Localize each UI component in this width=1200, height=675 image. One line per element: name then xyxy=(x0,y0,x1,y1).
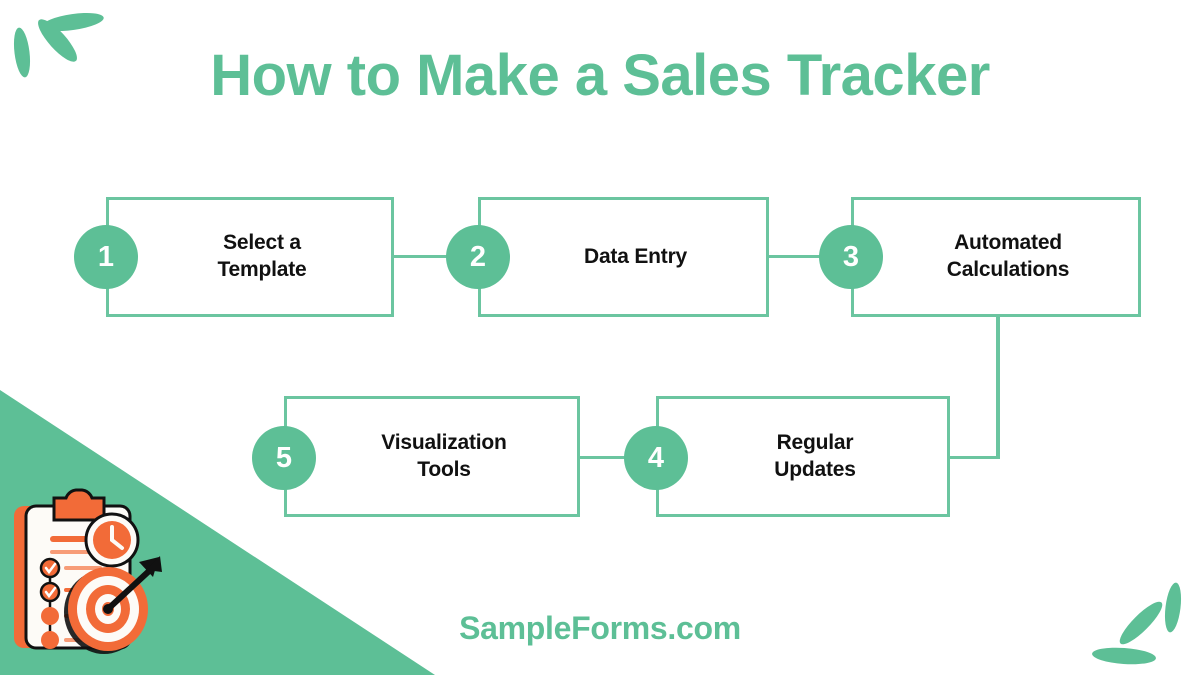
infographic-canvas: How to Make a Sales Tracker Select a Tem… xyxy=(0,0,1200,675)
connector-step3-step4-vertical xyxy=(996,315,1000,459)
step-circle-1[interactable]: 1 xyxy=(74,225,138,289)
flow-box-label: Visualization Tools xyxy=(347,430,516,484)
flow-box-label: Automated Calculations xyxy=(913,230,1079,284)
flow-box-step-2[interactable]: Data Entry xyxy=(478,197,769,317)
step-number: 4 xyxy=(648,442,664,475)
step-circle-2[interactable]: 2 xyxy=(446,225,510,289)
flow-box-label: Regular Updates xyxy=(740,430,865,484)
step-number: 3 xyxy=(843,241,859,274)
step-number: 5 xyxy=(276,442,292,475)
flow-box-step-5[interactable]: Visualization Tools xyxy=(284,396,580,517)
step-number: 2 xyxy=(470,241,486,274)
step-number: 1 xyxy=(98,241,114,274)
flow-box-label: Select a Template xyxy=(183,230,316,284)
flow-box-step-3[interactable]: Automated Calculations xyxy=(851,197,1141,317)
flow-box-step-4[interactable]: Regular Updates xyxy=(656,396,950,517)
leaf-icon xyxy=(1092,646,1157,666)
page-title: How to Make a Sales Tracker xyxy=(0,44,1200,108)
connector-step3-step4-horizontal xyxy=(947,456,999,459)
flow-box-step-1[interactable]: Select a Template xyxy=(106,197,394,317)
flow-box-label: Data Entry xyxy=(550,244,697,271)
step-circle-3[interactable]: 3 xyxy=(819,225,883,289)
step-circle-5[interactable]: 5 xyxy=(252,426,316,490)
step-circle-4[interactable]: 4 xyxy=(624,426,688,490)
clipboard-checklist-clock-target-icon xyxy=(6,470,196,670)
